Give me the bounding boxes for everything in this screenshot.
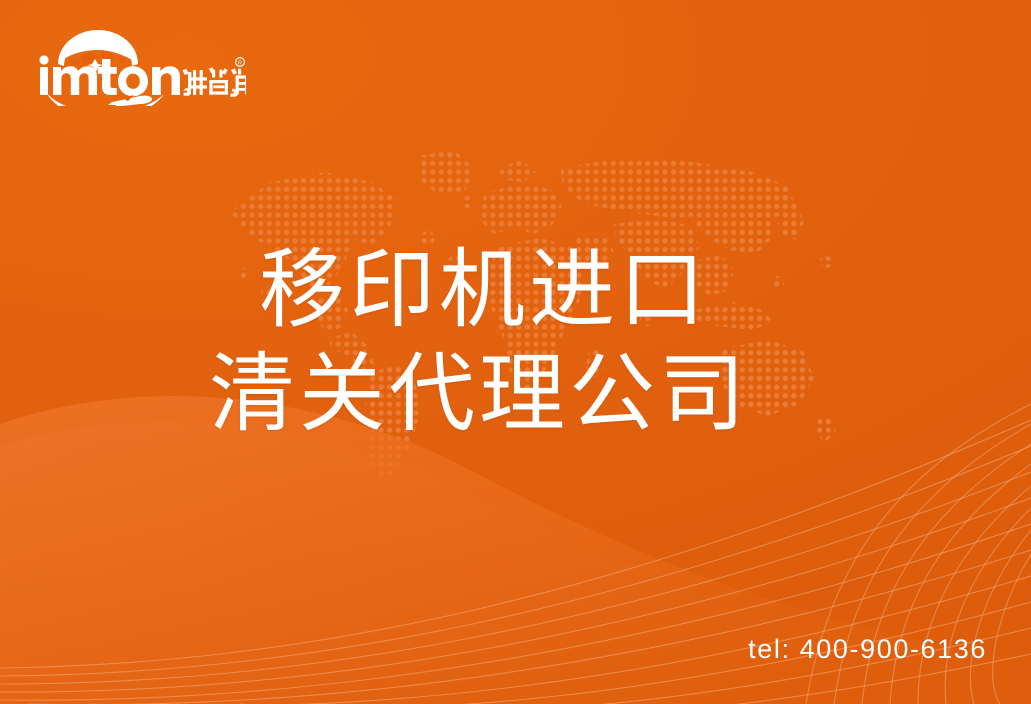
svg-text:R: R <box>238 60 242 66</box>
banner-canvas: R 移印机进口 清关代理公司 tel: 400-900-6136 <box>0 0 1031 704</box>
headline-block: 移印机进口 清关代理公司 <box>0 238 1031 446</box>
brand-logo[interactable]: R <box>36 26 246 106</box>
headline-line-2: 清关代理公司 <box>209 342 1031 446</box>
contact-telephone: tel: 400-900-6136 <box>748 634 987 665</box>
logo-wordmark-chinese <box>182 67 246 97</box>
headline-line-1: 移印机进口 <box>259 238 1031 342</box>
globe-dome-icon <box>58 30 138 72</box>
swoosh-plane-icon <box>46 92 164 106</box>
